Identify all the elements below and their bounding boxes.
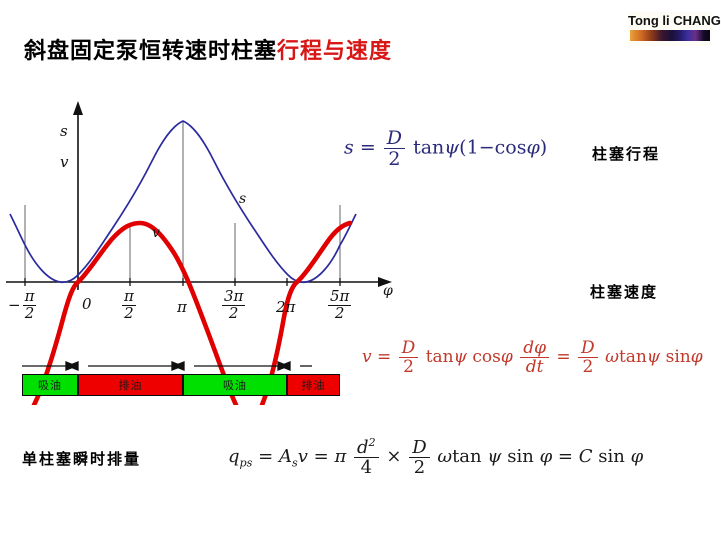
page-title-black: 斜盘固定泵恒转速时柱塞 [24,39,277,64]
xtick--pi-2: −π2 [8,289,36,322]
phase-arrow-row [0,357,330,375]
formula-v-frac2-den: 2 [578,357,598,376]
formula-s-psi: ψ [444,137,459,159]
formula-s-phi: φ [526,137,539,159]
y-axis-label-v: v [60,153,68,171]
formula-q-v: v [298,446,308,467]
formula-piston-velocity: v = D 2 tanψ cosφ dφ dt = D 2 ωtanψ sinφ [362,339,703,376]
xtick-den: 2 [122,305,136,322]
tick-drop-lines [25,121,340,282]
page-title-red: 行程与速度 [277,39,392,64]
formula-q-equals-3: = [558,446,573,467]
formula-v-fraction-2: D 2 [578,339,598,376]
formula-q-C: C [579,446,593,467]
formula-q-fraction-d2-4: d2 4 [354,437,379,477]
label-instantaneous-flow: 单柱塞瞬时排量 [22,448,141,469]
formula-s-open-paren: ( [459,137,466,159]
logo-text: Tong li CHANG [628,12,712,29]
formula-q-fraction-D-2: D 2 [409,438,429,477]
xtick-pi: π [177,298,187,316]
xtick-2pi: 2π [276,298,295,316]
formula-s-cos: cos [495,137,527,159]
formula-q-d: d [357,437,369,458]
label-piston-velocity: 柱塞速度 [590,281,658,302]
formula-q-subscript: ps [240,457,253,470]
label-piston-stroke: 柱塞行程 [592,143,660,164]
formula-q-sin-2: sin [598,446,625,467]
formula-v-equals: = [377,347,391,367]
phase-segment-discharge-2: 排油 [287,374,340,396]
formula-s-tan: tan [413,137,444,159]
formula-v-psi: ψ [454,347,467,367]
formula-v-sin: sin [666,347,691,367]
formula-q-psi: ψ [487,446,501,467]
xtick-num: π [122,289,136,305]
formula-v-tan: tan [426,347,454,367]
xtick-num: 5π [328,289,351,305]
formula-s-frac-den: 2 [384,148,405,169]
brand-logo: Tong li CHANG [628,12,712,46]
formula-instantaneous-flow: qps = Asv = π d2 4 × D 2 ωtan ψ sin φ = … [228,437,643,477]
formula-s-close-paren: ) [540,137,547,159]
y-axis-label-s: s [60,122,68,140]
formula-q-area: A [279,446,292,467]
formula-v-dnum: dφ [520,339,549,357]
formula-v-omega: ω [605,347,619,367]
formula-s-fraction: D 2 [384,128,405,169]
formula-q-D: D [409,438,429,457]
formula-q-sin: sin [507,446,534,467]
formula-q-equals: = [258,446,273,467]
xtick-den: 2 [23,305,37,322]
formula-q-den-4: 4 [354,457,379,477]
xtick-minus-sign: − [8,296,23,314]
formula-s-lhs: s [344,137,354,159]
formula-piston-stroke: s = D 2 tanψ(1−cosφ) [344,128,547,169]
formula-s-one: 1 [467,137,479,159]
formula-v-phi: φ [501,347,513,367]
curve-label-s: s [239,191,246,207]
formula-q-omega: ω [437,446,452,467]
formula-v-frac2-num: D [578,339,598,357]
xtick-0: 0 [82,295,92,313]
page-title: 斜盘固定泵恒转速时柱塞行程与速度 [24,33,392,65]
formula-q-d-exponent: 2 [369,436,376,449]
formula-v-cos: cos [472,347,500,367]
xtick-num: π [23,289,37,305]
formula-v-frac1-den: 2 [399,357,419,376]
xtick-den: 2 [328,305,351,322]
formula-q-d-num: d2 [354,437,379,457]
formula-q-pi: π [334,446,346,467]
xtick-pi-2: π2 [122,289,136,322]
y-axis-arrow [73,101,83,115]
xtick-den: 2 [222,305,245,322]
xtick-3pi-2: 3π2 [222,289,245,322]
formula-v-derivative: dφ dt [520,339,549,376]
formula-s-equals: = [360,137,376,159]
suction-discharge-phase-bar: 吸油 排油 吸油 排油 [0,374,312,396]
x-axis-label-phi: φ [383,283,393,299]
formula-v-dden: dt [520,357,549,376]
formula-v-tan-2: tan [619,347,647,367]
curve-label-v: v [152,225,160,241]
formula-q-phi-2: φ [631,446,644,467]
formula-v-fraction-1: D 2 [399,339,419,376]
xtick-num: 3π [222,289,245,305]
formula-s-minus: − [479,137,495,159]
formula-q-phi: φ [540,446,553,467]
formula-v-equals-2: = [556,347,570,367]
formula-q-times: × [386,446,401,467]
formula-q-symbol: q [228,446,240,467]
formula-q-equals-2: = [314,446,329,467]
formula-s-frac-num: D [384,128,405,148]
formula-v-phi-2: φ [691,347,703,367]
formula-q-den-2: 2 [409,457,429,477]
formula-q-tan: tan [452,446,482,467]
formula-v-psi-2: ψ [647,347,660,367]
phase-segment-suction-2: 吸油 [183,374,287,396]
phase-segment-discharge-1: 排油 [78,374,183,396]
xtick-5pi-2: 5π2 [328,289,351,322]
phase-segment-suction-1: 吸油 [22,374,78,396]
formula-v-lhs: v [362,347,372,367]
formula-v-frac1-num: D [399,339,419,357]
logo-gradient-bar [630,30,710,41]
